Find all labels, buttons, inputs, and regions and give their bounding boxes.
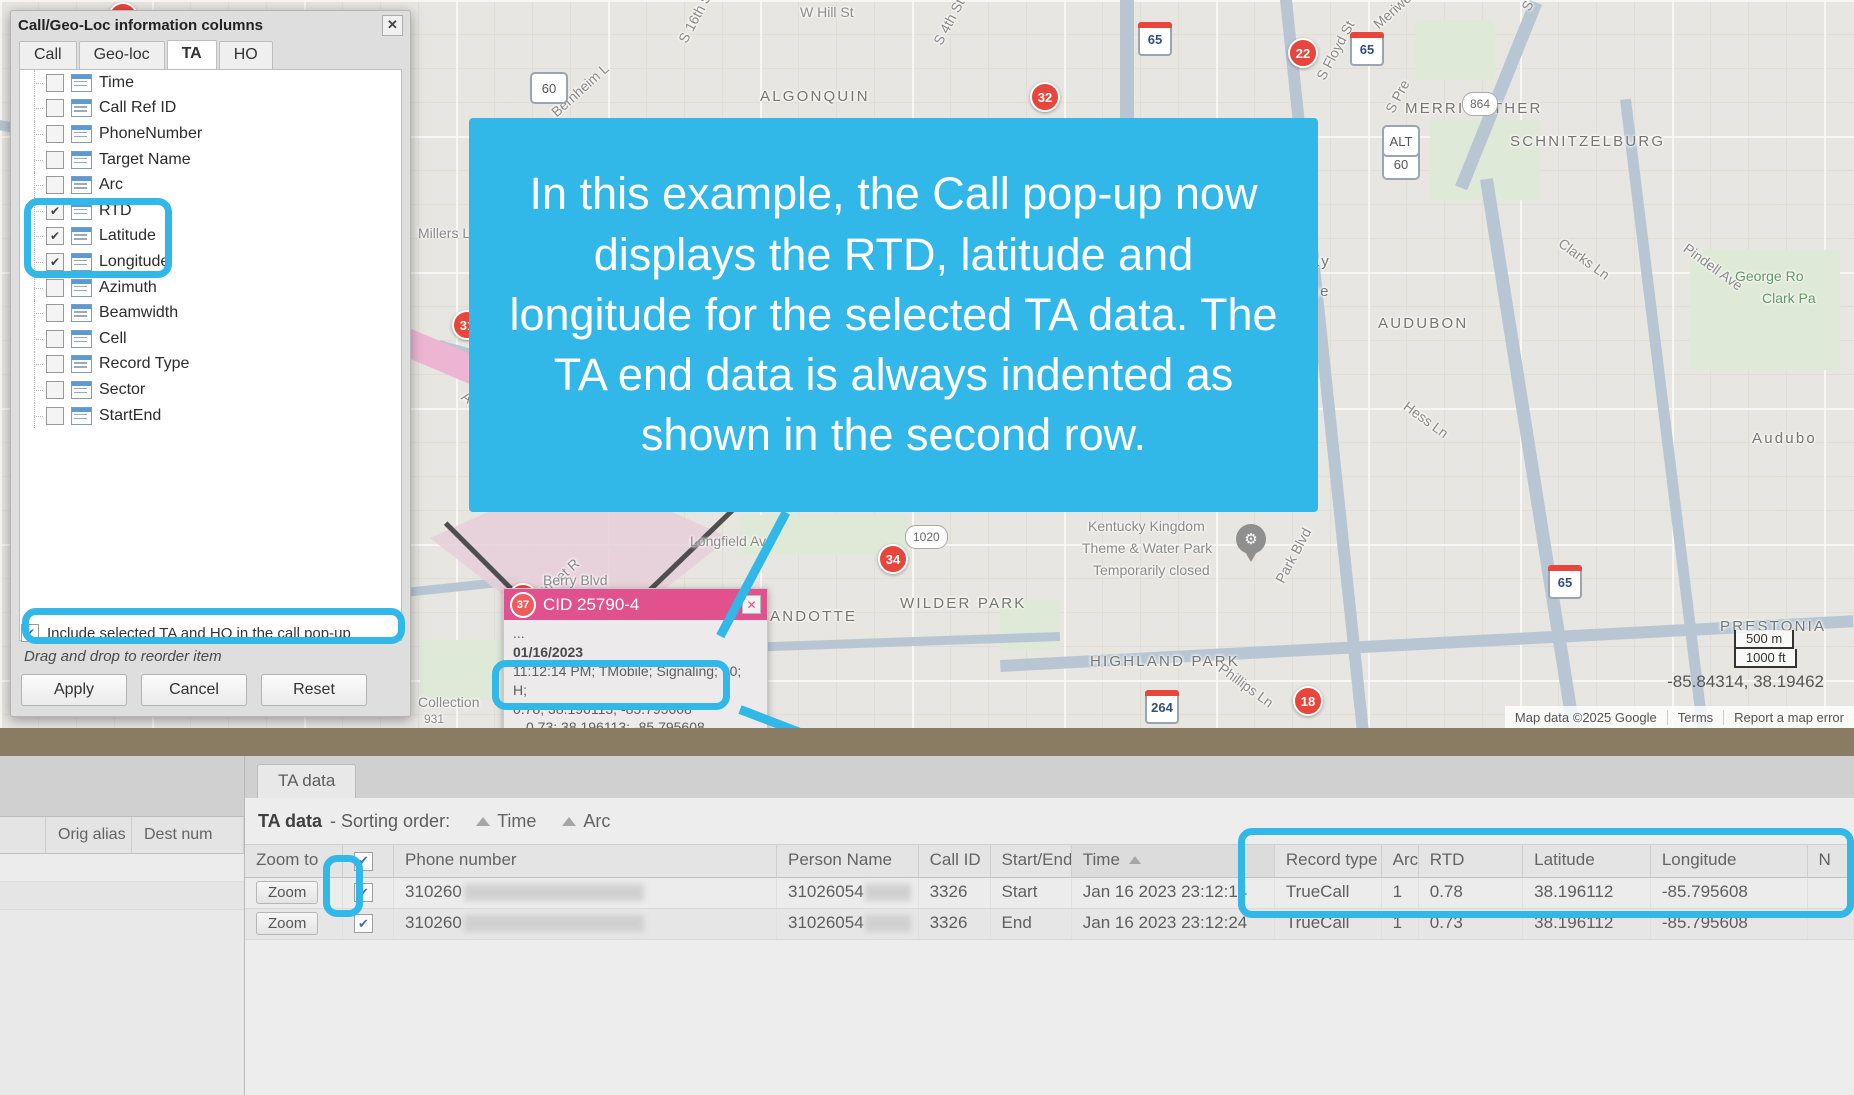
map-label: SCHNITZELBURG (1510, 133, 1665, 150)
left-grid-header: Orig alias Dest num (0, 817, 244, 854)
caret-up-icon (476, 817, 490, 826)
cell-start-end: Start (990, 877, 1071, 908)
scale-metric: 500 m (1734, 630, 1794, 649)
highlight-ring-row-checkboxes (323, 855, 363, 917)
map-route-shield: 18 (1293, 686, 1323, 716)
map-poi-pin[interactable]: ⚙ (1236, 524, 1266, 562)
column-label: Arc (99, 176, 123, 194)
call-popup-title: CID 25790-4 (543, 595, 639, 615)
column-checkbox[interactable] (46, 99, 64, 117)
map-route-shield: 65 (1350, 32, 1384, 66)
column-list-item[interactable]: Sector (20, 377, 401, 403)
tree-dash (34, 364, 43, 365)
map-route-shield: 65 (1548, 565, 1582, 599)
divider-bar (0, 728, 1854, 756)
map-park-patch (1415, 20, 1495, 80)
cell-person-name: 31026054 (777, 877, 919, 908)
poi-pin-tail (1244, 550, 1258, 562)
col-person-name[interactable]: Person Name (777, 845, 919, 877)
scale-imperial: 1000 ft (1734, 649, 1797, 668)
column-list-item[interactable]: Call Ref ID (20, 96, 401, 122)
col-call-id[interactable]: Call ID (918, 845, 990, 877)
map-coordinates-readout: -85.84314, 38.19462 (1667, 672, 1824, 692)
column-list[interactable]: TimeCall Ref IDPhoneNumberTarget NameArc… (19, 69, 402, 641)
map-route-shield: 22 (1288, 38, 1318, 68)
person-name-value: 31026054 (788, 882, 864, 901)
cell-call-id: 3326 (918, 877, 990, 908)
column-checkbox[interactable] (46, 151, 64, 169)
apply-button[interactable]: Apply (21, 674, 127, 706)
highlight-ring-latlon-columns (24, 198, 172, 278)
highlight-ring-popup-ta-rows (492, 660, 730, 710)
column-checkbox[interactable] (46, 176, 64, 194)
col-time-label: Time (1083, 850, 1120, 870)
column-list-item[interactable]: Record Type (20, 352, 401, 378)
column-label: Beamwidth (99, 304, 178, 322)
cell-start-end: End (990, 908, 1071, 939)
map-label: Collection (418, 694, 479, 710)
map-route-shield: 264 (1145, 690, 1179, 724)
map-grid-line (1596, 0, 1597, 728)
column-list-item[interactable]: Beamwidth (20, 300, 401, 326)
map-label: Kentucky Kingdom (1088, 518, 1205, 534)
column-checkbox[interactable] (46, 407, 64, 425)
ta-sorting-prefix: - Sorting order: (330, 811, 450, 832)
sort-by-arc[interactable]: Arc (562, 811, 610, 832)
map-route-shield: 32 (1030, 82, 1060, 112)
tree-dash (34, 339, 43, 340)
col-phone-number[interactable]: Phone number (394, 845, 777, 877)
sort-by-time-label: Time (497, 811, 536, 832)
ta-tab-bar: TA data (245, 756, 1854, 798)
phone-number-value: 310260 (405, 913, 462, 932)
column-checkbox[interactable] (46, 304, 64, 322)
map-label: Temporarily closed (1093, 562, 1210, 578)
column-list-item[interactable]: Arc (20, 172, 401, 198)
map-highway (1120, 0, 1134, 130)
column-label: Time (99, 74, 134, 92)
column-icon (71, 74, 92, 92)
column-checkbox[interactable] (46, 381, 64, 399)
annotation-callout: In this example, the Call pop-up now dis… (469, 118, 1318, 512)
column-list-item[interactable]: StartEnd (20, 403, 401, 429)
column-icon (71, 407, 92, 425)
sort-by-arc-label: Arc (583, 811, 610, 832)
row-checkbox[interactable]: ✔ (354, 914, 373, 933)
column-icon (71, 381, 92, 399)
map-grid-line-major (1368, 0, 1370, 728)
dialog-tab-ho[interactable]: HO (219, 41, 273, 69)
column-checkbox[interactable] (46, 125, 64, 143)
map-route-shield: 65 (1138, 22, 1172, 56)
bottom-panel: Orig alias Dest num TA data TA data - So… (0, 756, 1854, 1095)
col-start-end[interactable]: Start/End (990, 845, 1071, 877)
dialog-tab-call[interactable]: Call (19, 41, 77, 69)
ta-sorting-title: TA data (258, 811, 322, 832)
map-grid-line (418, 0, 419, 728)
dialog-tab-ta[interactable]: TA (167, 40, 217, 69)
map-attrib-data: Map data ©2025 Google (1505, 710, 1667, 725)
map-route-shield: ALT (1382, 125, 1420, 157)
map-attrib-report[interactable]: Report a map error (1723, 710, 1854, 725)
map-label: ANDOTTE (770, 608, 857, 625)
caret-up-icon (1129, 856, 1141, 864)
column-checkbox[interactable] (46, 330, 64, 348)
close-icon[interactable]: ✕ (382, 15, 403, 36)
map-grid-line-major (0, 0, 1854, 2)
dialog-title-bar: Call/Geo-Loc information columns ✕ (11, 11, 410, 39)
map-label: Theme & Water Park (1082, 540, 1212, 556)
column-icon (71, 176, 92, 194)
table-row[interactable] (0, 854, 244, 882)
annotation-callout-text: In this example, the Call pop-up now dis… (499, 164, 1288, 465)
person-name-value: 31026054 (788, 913, 864, 932)
map-route-shield: 864 (1462, 92, 1498, 116)
cell-phone-number: 310260 (394, 908, 777, 939)
tree-dash (34, 134, 43, 135)
map-grid-line-major (1672, 0, 1674, 728)
map-route-shield: 1020 (905, 525, 948, 549)
tree-dash (34, 185, 43, 186)
column-label: Call Ref ID (99, 99, 176, 117)
column-list-item[interactable]: PhoneNumber (20, 121, 401, 147)
cancel-button[interactable]: Cancel (141, 674, 247, 706)
map-scale-bar: 500 m 1000 ft (1734, 630, 1794, 668)
column-label: PhoneNumber (99, 125, 202, 143)
reset-button[interactable]: Reset (261, 674, 367, 706)
cell-phone-number: 310260 (394, 877, 777, 908)
tree-dash (34, 83, 43, 84)
sort-by-time[interactable]: Time (476, 811, 536, 832)
call-popup-ta-end: 0.73; 38.196113; -85.795608 (513, 718, 758, 728)
column-checkbox[interactable] (46, 355, 64, 373)
map-label: ALGONQUIN (760, 88, 870, 105)
highlight-ring-include-checkbox (22, 608, 405, 644)
column-list-item[interactable]: Target Name (20, 147, 401, 173)
tree-dash (34, 313, 43, 314)
left-grid-col-dest-num[interactable]: Dest num (132, 817, 244, 853)
dialog-title: Call/Geo-Loc information columns (18, 17, 263, 34)
tree-dash (34, 108, 43, 109)
dialog-buttons[interactable]: Apply Cancel Reset (21, 674, 400, 706)
map-label: WILDER PARK (900, 595, 1026, 612)
table-row[interactable] (0, 882, 244, 910)
redacted-phone (464, 884, 644, 901)
zoom-button[interactable]: Zoom (256, 881, 318, 904)
column-label: Sector (99, 381, 145, 399)
caret-up-icon (562, 817, 576, 826)
tree-dash (34, 160, 43, 161)
map-attrib-terms[interactable]: Terms (1667, 710, 1723, 725)
column-icon (71, 279, 92, 297)
column-label: Target Name (99, 151, 191, 169)
column-icon (71, 99, 92, 117)
phone-number-value: 310260 (405, 882, 462, 901)
column-label: StartEnd (99, 407, 161, 425)
column-list-item[interactable]: Time (20, 70, 401, 96)
map-label: Clark Pa (1762, 290, 1816, 306)
column-icon (71, 330, 92, 348)
map-label: W Hill St (800, 4, 854, 20)
column-icon (71, 304, 92, 322)
highlight-ring-rtd-lat-lon-columns (1238, 828, 1854, 918)
column-list-item[interactable]: Azimuth (20, 275, 401, 301)
map-label: Millers L (418, 225, 470, 241)
map-label: George Ro (1735, 268, 1803, 284)
map-route-shield: 34 (878, 544, 908, 574)
drag-reorder-hint: Drag and drop to reorder item (24, 648, 400, 665)
map-label: HIGHLAND PARK (1090, 653, 1240, 670)
column-list-item[interactable]: Cell (20, 326, 401, 352)
map-label: Audubo (1752, 430, 1817, 447)
left-grid-col-blank[interactable] (0, 817, 46, 853)
left-grid-toolbar (0, 756, 244, 817)
map-label: AUDUBON (1378, 315, 1468, 332)
column-label: Azimuth (99, 279, 157, 297)
left-data-grid[interactable]: Orig alias Dest num (0, 756, 245, 1095)
tree-dash (34, 416, 43, 417)
dialog-tab-geo-loc[interactable]: Geo-loc (79, 41, 165, 69)
cell-call-id: 3326 (918, 908, 990, 939)
map-attribution: Map data ©2025 Google Terms Report a map… (1505, 706, 1854, 728)
column-checkbox[interactable] (46, 74, 64, 92)
tab-ta-data[interactable]: TA data (257, 764, 356, 798)
tree-dash (34, 390, 43, 391)
map-grid-line-major (0, 0, 2, 728)
call-popup-date: 01/16/2023 (513, 643, 758, 662)
ta-data-panel: TA data TA data - Sorting order: Time Ar… (245, 756, 1854, 1095)
map-label: 931 (424, 712, 444, 726)
zoom-button[interactable]: Zoom (256, 912, 318, 935)
dialog-tabs[interactable]: CallGeo-locTAHO (11, 39, 410, 69)
tree-dash (34, 288, 43, 289)
column-icon (71, 125, 92, 143)
cell-person-name: 31026054 (777, 908, 919, 939)
column-checkbox[interactable] (46, 279, 64, 297)
redacted-phone (464, 915, 644, 932)
column-icon (71, 355, 92, 373)
column-label: Record Type (99, 355, 189, 373)
column-icon (71, 151, 92, 169)
map-route-shield: 60 (530, 72, 568, 104)
left-grid-col-orig-alias[interactable]: Orig alias (46, 817, 132, 853)
map-grid-line (1634, 0, 1635, 728)
map-label: Berry Blvd (543, 572, 608, 588)
redacted-person (865, 915, 911, 932)
redacted-person (865, 884, 911, 901)
call-popup-badge: 37 (510, 592, 536, 618)
column-label: Cell (99, 330, 127, 348)
